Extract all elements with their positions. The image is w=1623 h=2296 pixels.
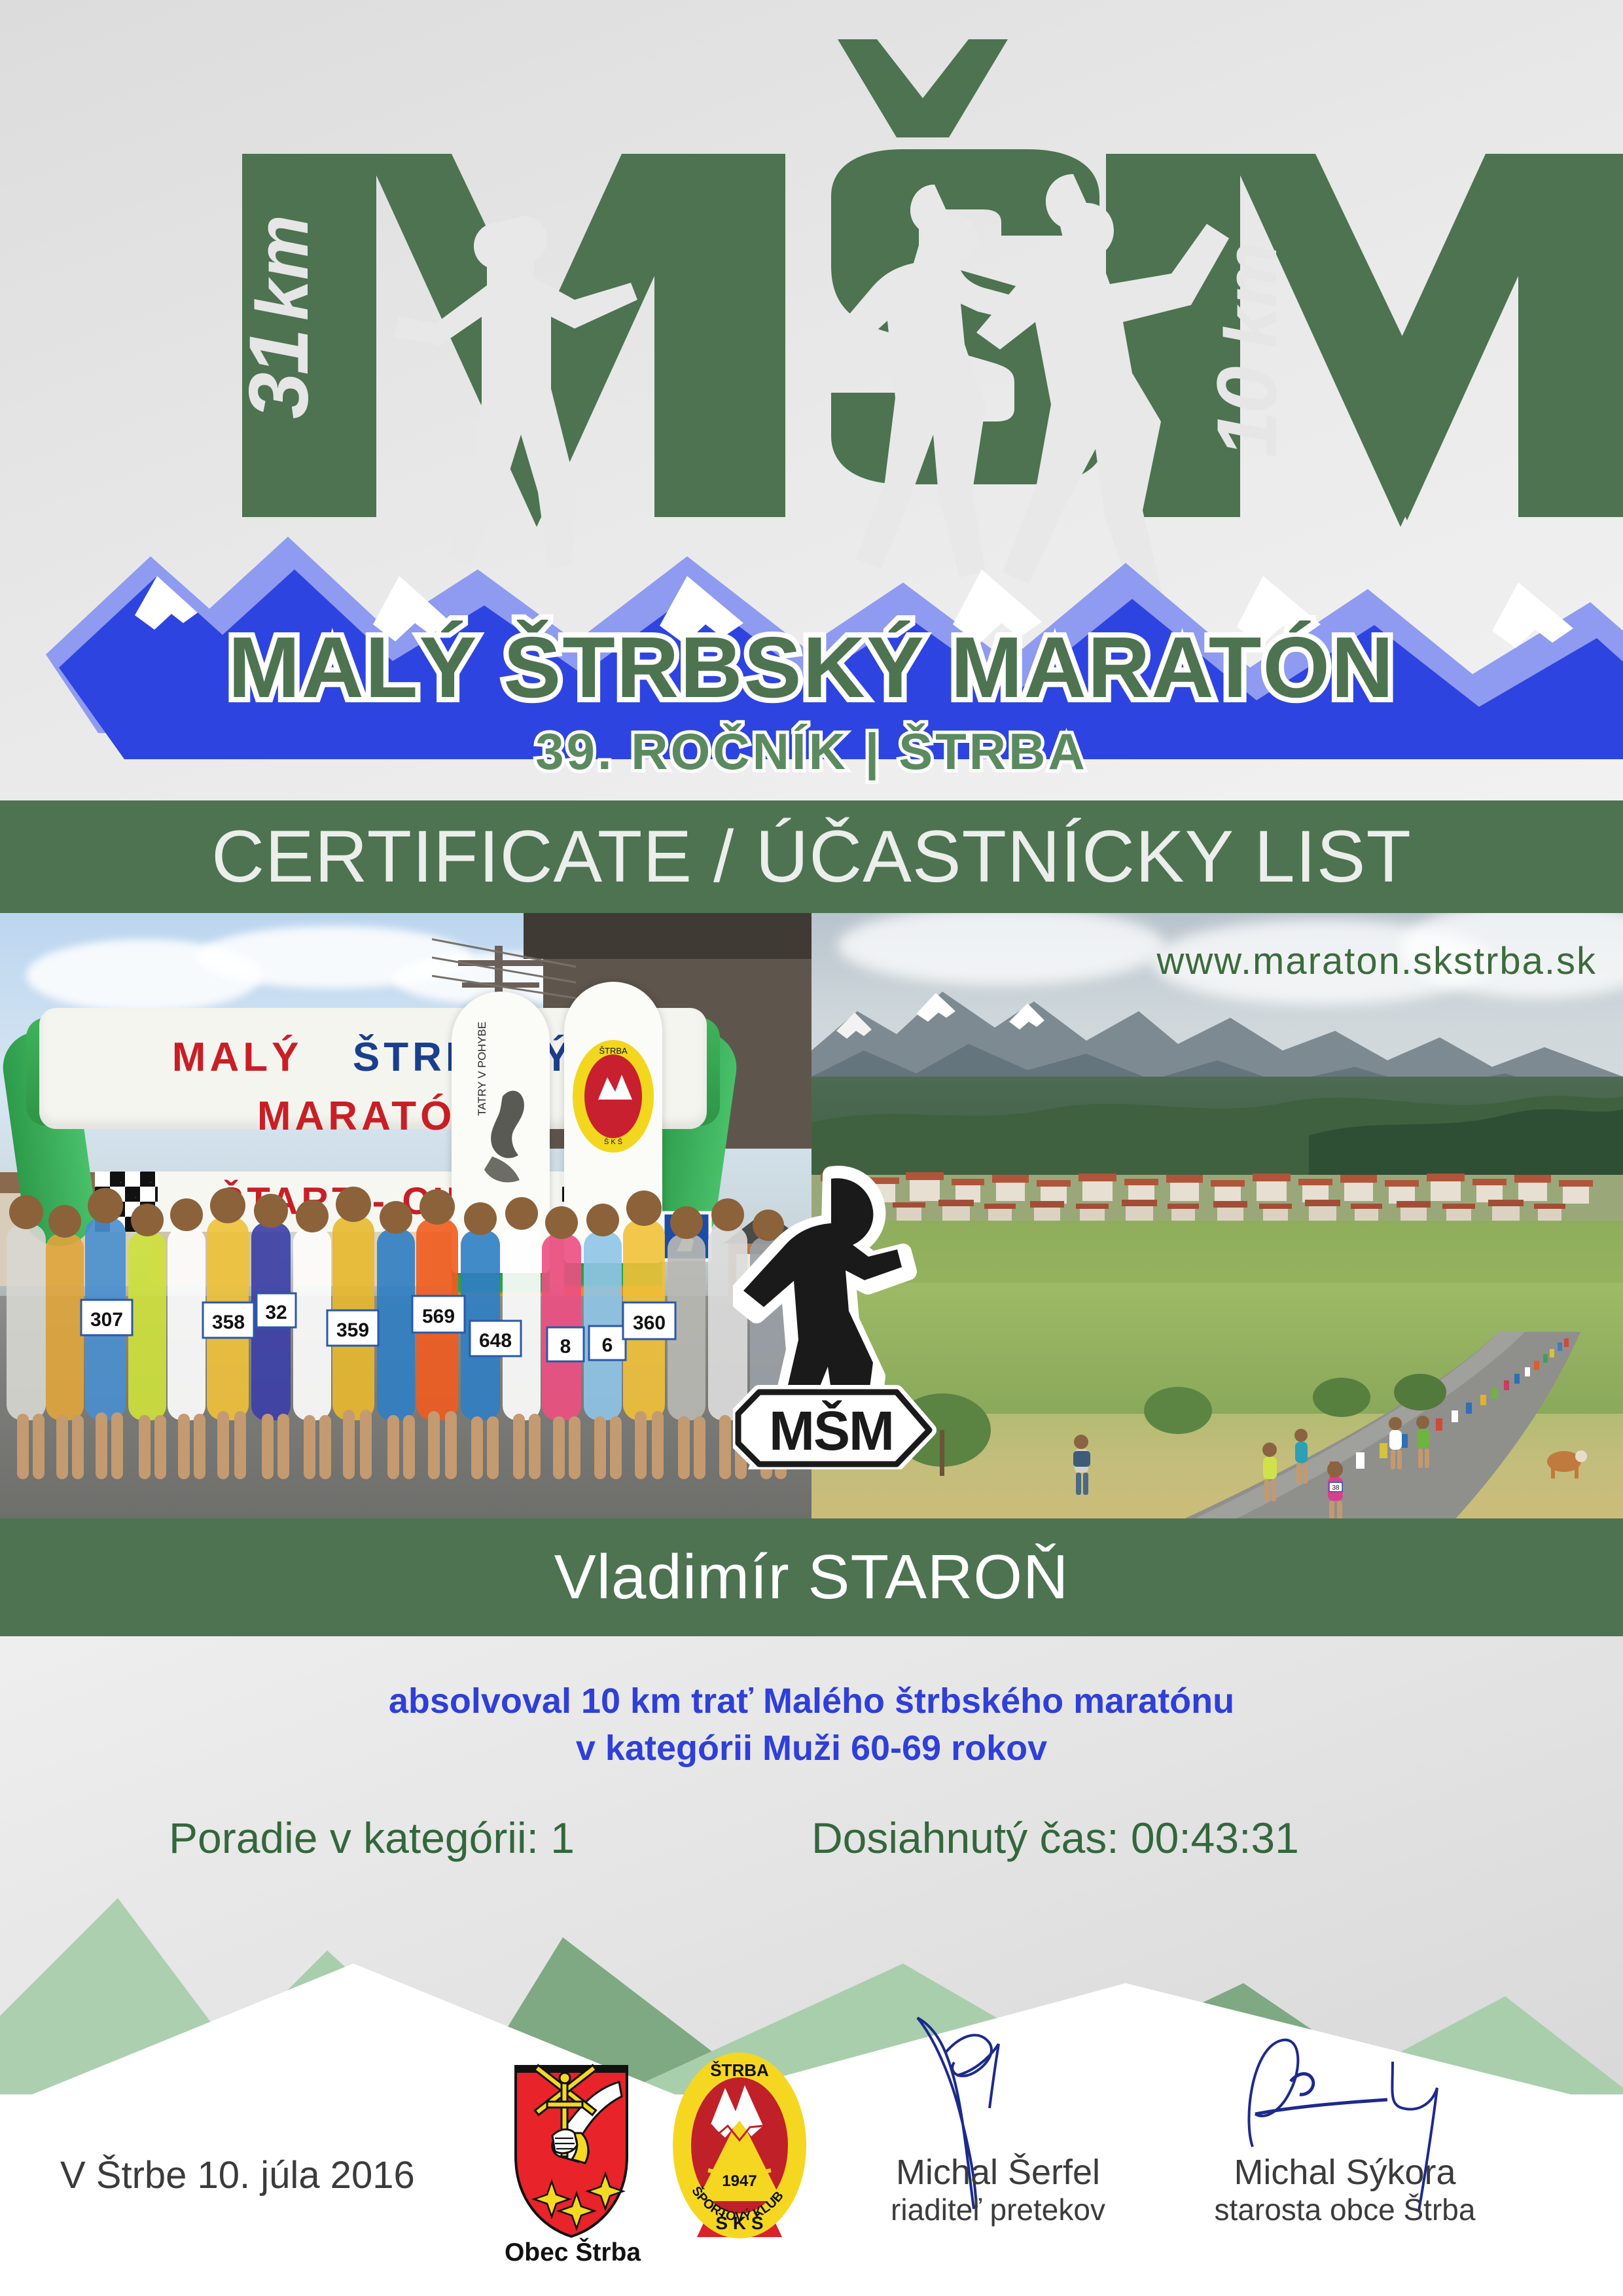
svg-text:31: 31 xyxy=(232,331,326,419)
msm-logo-graphic: 31 km 10 km xyxy=(0,0,1623,795)
bib-number: 307 xyxy=(81,1300,132,1335)
signature-role: riaditeľ pretekov xyxy=(844,2192,1152,2228)
svg-text:6: 6 xyxy=(602,1335,613,1356)
runner-figure xyxy=(1416,1416,1429,1468)
club-crest-year: 1947 xyxy=(722,2172,757,2190)
obec-strba-label: Obec Štrba xyxy=(478,2238,668,2267)
result-row: Poradie v kategórii: 1 Dosiahnutý čas: 0… xyxy=(0,1813,1623,1863)
svg-text:km: km xyxy=(241,215,323,321)
detail-line-2: v kategórii Muži 60-69 rokov xyxy=(0,1728,1623,1768)
bib-number: 6 xyxy=(589,1326,626,1360)
event-title: MALÝ ŠTRBSKÝ MARATÓN xyxy=(228,619,1395,715)
bib-number: 8 xyxy=(547,1327,584,1361)
certificate-title-bar: CERTIFICATE / ÚČASTNÍCKY LIST xyxy=(0,800,1623,913)
participant-name-bar: Vladimír STAROŇ xyxy=(0,1518,1623,1636)
runners-crowd: 307 358 32 359 569 648 8 6 360 xyxy=(0,1172,811,1479)
svg-text:648: 648 xyxy=(479,1330,512,1352)
bib-number: 360 xyxy=(623,1302,675,1339)
svg-text:ŠTRBA: ŠTRBA xyxy=(599,1046,628,1056)
result-details: absolvoval 10 km trať Malého štrbského m… xyxy=(0,1636,1623,1905)
svg-text:307: 307 xyxy=(90,1309,123,1331)
race-start-photo: MALÝ ŠTRBSKÝ MARATÓN ŠTART - CIEĽ TATRY … xyxy=(0,913,811,1518)
event-logo: 31 km 10 km xyxy=(0,0,1623,795)
issue-date: V Štrbe 10. júla 2016 xyxy=(60,2153,415,2197)
category-rank: Poradie v kategórii: 1 xyxy=(169,1813,575,1863)
svg-text:359: 359 xyxy=(336,1319,369,1341)
signature-block-race-director: Michal Šerfel riaditeľ pretekov xyxy=(844,2153,1152,2229)
svg-text:38: 38 xyxy=(1332,1484,1340,1492)
detail-line-1: absolvoval 10 km trať Malého štrbského m… xyxy=(0,1681,1623,1721)
event-subtitle: 39. ROČNÍK | ŠTRBA xyxy=(535,723,1088,780)
svg-text:TATRY V POHYBE: TATRY V POHYBE xyxy=(476,1022,488,1116)
obec-strba-coat-of-arms xyxy=(509,2058,633,2242)
signature-name: Michal Šerfel xyxy=(844,2153,1152,2192)
svg-text:360: 360 xyxy=(633,1312,666,1334)
runner-figure xyxy=(1389,1417,1402,1469)
certificate-page: 31 km 10 km xyxy=(0,0,1623,2296)
signature-name: Michal Sýkora xyxy=(1191,2153,1499,2192)
svg-text:569: 569 xyxy=(422,1306,455,1327)
signature-block-mayor: Michal Sýkora starosta obce Štrba xyxy=(1191,2153,1499,2229)
finish-time: Dosiahnutý čas: 00:43:31 xyxy=(811,1813,1299,1863)
runner-figure xyxy=(1294,1429,1308,1484)
club-crest-top-text: ŠTRBA xyxy=(710,2060,769,2080)
bib-number: 648 xyxy=(470,1321,521,1356)
website-url[interactable]: www.maraton.skstrba.sk xyxy=(1156,939,1597,983)
arch-word-maly: MALÝ xyxy=(172,1035,303,1080)
svg-text:358: 358 xyxy=(212,1312,245,1333)
bib-number: 358 xyxy=(203,1302,254,1338)
msm-runner-badge: MŠM xyxy=(733,1162,949,1469)
svg-text:Š K Š: Š K Š xyxy=(604,1138,622,1146)
bib-number: 359 xyxy=(327,1310,378,1346)
svg-text:8: 8 xyxy=(560,1336,571,1357)
svg-text:10: 10 xyxy=(1199,367,1294,458)
bib-number: 569 xyxy=(412,1296,465,1333)
svg-text:32: 32 xyxy=(265,1302,287,1323)
sks-club-crest: ŠTRBA 1947 Š K Š ŠPORTOVÝ KLUB xyxy=(668,2047,811,2244)
signature-role: starosta obce Štrba xyxy=(1191,2192,1499,2228)
bib-number: 32 xyxy=(257,1293,296,1327)
svg-text:km: km xyxy=(1210,242,1292,348)
participant-name: Vladimír STAROŇ xyxy=(554,1546,1069,1609)
certificate-title: CERTIFICATE / ÚČASTNÍCKY LIST xyxy=(211,820,1412,893)
badge-letters: MŠM xyxy=(769,1400,893,1462)
